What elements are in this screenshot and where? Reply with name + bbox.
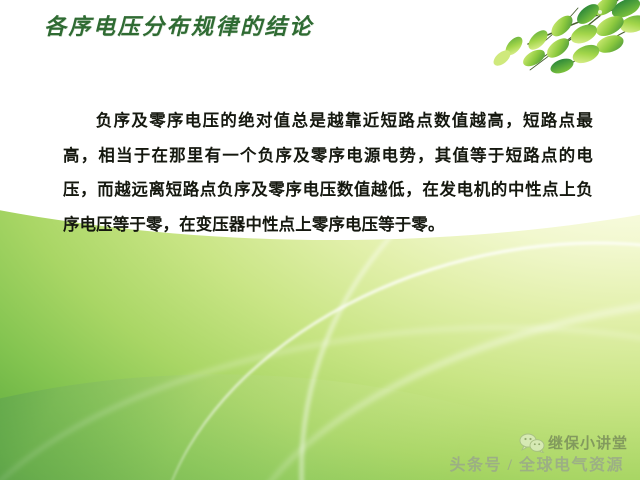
body-paragraph: 负序及零序电压的绝对值总是越靠近短路点数值越高，短路点最高，相当于在那里有一个负… (63, 104, 593, 242)
watermark-group: 继保小讲堂 头条号 / 全球电气资源 (404, 432, 634, 478)
slide-canvas: 各序电压分布规律的结论 负序及零序电压的绝对值总是越靠近短路点数值越高，短路点最… (0, 0, 640, 480)
title-bar: 各序电压分布规律的结论 (0, 0, 640, 52)
background-swoosh-lower (0, 281, 640, 480)
wechat-icon (519, 433, 545, 453)
page-title: 各序电压分布规律的结论 (44, 9, 314, 41)
background-swoosh-wide (201, 232, 640, 480)
wechat-watermark: 继保小讲堂 (519, 432, 628, 453)
toutiao-watermark-label: 头条号 / 全球电气资源 (450, 451, 624, 475)
background-arc-inner (0, 31, 640, 480)
wechat-watermark-label: 继保小讲堂 (548, 432, 628, 453)
